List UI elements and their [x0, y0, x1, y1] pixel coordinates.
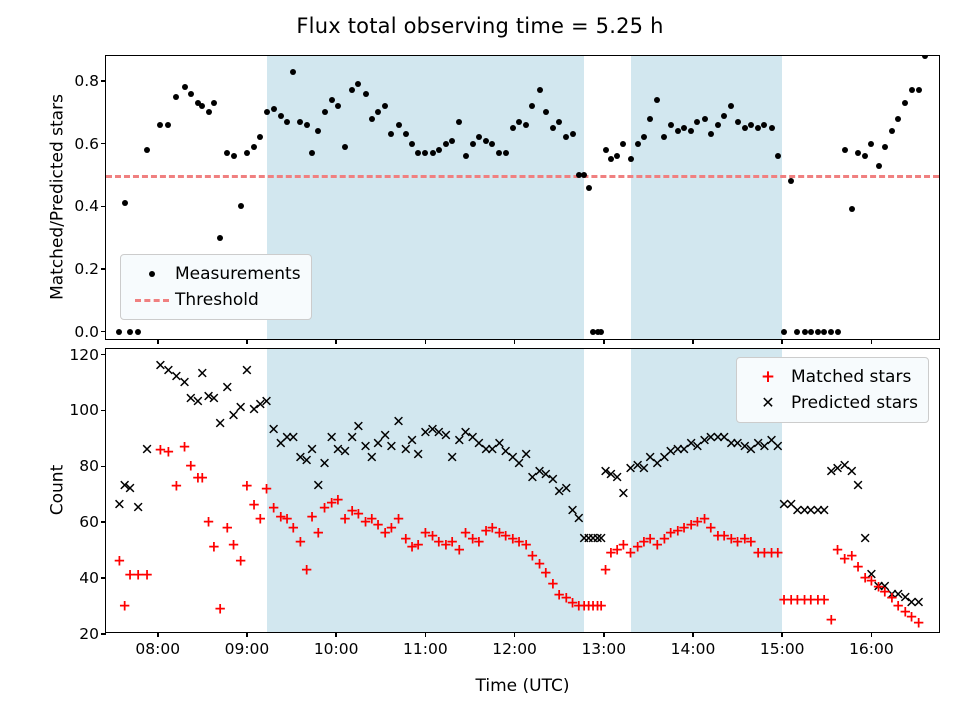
y-tick-label: 40 — [79, 569, 99, 587]
x-tick-label: 16:00 — [849, 640, 894, 658]
legend-label: Measurements — [175, 264, 301, 284]
predicted-star-marker: ✕ — [611, 470, 624, 485]
measurement-point — [882, 144, 888, 150]
y-tick-mark — [101, 143, 106, 145]
x-tick-mark — [157, 339, 159, 344]
y-tick-mark — [101, 466, 106, 468]
y-tick-label: 60 — [79, 513, 99, 531]
threshold-line — [106, 175, 939, 178]
figure-title: Flux total observing time = 5.25 h — [0, 14, 960, 38]
y-tick-label: 0.6 — [74, 135, 99, 153]
measurement-point — [388, 131, 394, 137]
predicted-star-marker: ✕ — [241, 364, 254, 379]
measurement-point — [742, 125, 748, 131]
predicted-star-marker: ✕ — [771, 439, 784, 454]
measurement-point — [122, 200, 128, 206]
measurement-point — [199, 103, 205, 109]
measurement-point — [570, 131, 576, 137]
top-panel-legend: MeasurementsThreshold — [120, 254, 312, 320]
measurement-point — [688, 128, 694, 134]
measurement-point — [403, 131, 409, 137]
measurement-point — [550, 125, 556, 131]
measurement-point — [290, 69, 296, 75]
y-tick-mark — [101, 206, 106, 208]
measurement-point — [251, 144, 257, 150]
predicted-star-marker: ✕ — [412, 448, 425, 463]
measurement-point — [815, 329, 821, 335]
measurement-point — [708, 131, 714, 137]
legend-cross-icon: ✕ — [745, 393, 791, 413]
legend-dot-icon — [129, 264, 175, 284]
measurement-point — [922, 56, 928, 59]
measurement-point — [794, 329, 800, 335]
x-tick-mark — [603, 632, 605, 637]
measurement-point — [702, 116, 708, 122]
legend-entry: Threshold — [129, 287, 301, 313]
measurement-point — [748, 122, 754, 128]
measurement-point — [135, 329, 141, 335]
measurement-point — [876, 163, 882, 169]
predicted-star-marker: ✕ — [260, 395, 273, 410]
measurement-point — [422, 150, 428, 156]
measurement-point — [297, 119, 303, 125]
predicted-star-marker: ✕ — [440, 428, 453, 443]
measurement-point — [668, 122, 674, 128]
x-tick-mark — [335, 632, 337, 637]
matched-star-marker: + — [818, 593, 831, 608]
measurement-point — [608, 156, 614, 162]
x-tick-mark — [692, 632, 694, 637]
measurement-point — [224, 150, 230, 156]
measurement-point — [529, 103, 535, 109]
measurement-point — [476, 134, 482, 140]
legend-entry: ✕Predicted stars — [745, 390, 918, 416]
y-tick-mark — [101, 268, 106, 270]
measurement-point — [173, 94, 179, 100]
measurement-point — [661, 134, 667, 140]
predicted-star-marker: ✕ — [366, 450, 379, 465]
matched-star-marker: + — [241, 478, 254, 493]
measurement-point — [355, 81, 361, 87]
measurement-point — [443, 141, 449, 147]
measurement-point — [849, 206, 855, 212]
x-tick-label: 12:00 — [492, 640, 537, 658]
x-axis-label: Time (UTC) — [105, 676, 940, 696]
measurement-point — [889, 128, 895, 134]
x-tick-mark — [514, 339, 516, 344]
measurement-point — [182, 84, 188, 90]
measurement-point — [802, 329, 808, 335]
measurement-point — [257, 134, 263, 140]
predicted-star-marker: ✕ — [214, 417, 227, 432]
matched-star-marker: + — [118, 599, 131, 614]
measurement-point — [463, 153, 469, 159]
matched-star-marker: + — [771, 545, 784, 560]
measurement-point — [470, 141, 476, 147]
measurement-point — [537, 87, 543, 93]
x-tick-label: 15:00 — [760, 640, 805, 658]
measurement-point — [309, 150, 315, 156]
matched-star-marker: + — [234, 554, 247, 569]
measurement-point — [206, 109, 212, 115]
predicted-star-marker: ✕ — [859, 532, 872, 547]
measurement-point — [586, 185, 592, 191]
measurement-point — [761, 122, 767, 128]
measurement-point — [483, 138, 489, 144]
y-tick-label: 80 — [79, 457, 99, 475]
matched-star-marker: + — [306, 509, 319, 524]
y-tick-label: 0.4 — [74, 197, 99, 215]
predicted-star-marker: ✕ — [318, 456, 331, 471]
shaded-observing-block-2 — [631, 56, 783, 339]
measurement-point — [781, 329, 787, 335]
matched-star-marker: + — [178, 439, 191, 454]
y-tick-label: 0.2 — [74, 260, 99, 278]
predicted-star-marker: ✕ — [573, 512, 586, 527]
predicted-star-marker: ✕ — [617, 487, 630, 502]
measurement-point — [165, 122, 171, 128]
x-tick-mark — [871, 339, 873, 344]
top-panel-axes: 0.00.20.40.60.8 MeasurementsThreshold — [105, 55, 940, 340]
y-tick-mark — [101, 410, 106, 412]
measurement-point — [721, 113, 727, 119]
measurement-point — [902, 100, 908, 106]
measurement-point — [329, 97, 335, 103]
measurement-point — [755, 125, 761, 131]
measurement-point — [641, 134, 647, 140]
matched-star-marker: + — [260, 481, 273, 496]
x-tick-mark — [335, 339, 337, 344]
measurement-point — [157, 122, 163, 128]
matched-star-marker: + — [912, 615, 925, 630]
x-tick-label: 11:00 — [403, 640, 448, 658]
matched-star-marker: + — [214, 601, 227, 616]
y-tick-mark — [101, 80, 106, 82]
measurement-point — [503, 150, 509, 156]
measurement-point — [842, 147, 848, 153]
measurement-point — [628, 156, 634, 162]
matched-star-marker: + — [392, 512, 405, 527]
measurement-point — [769, 125, 775, 131]
predicted-star-marker: ✕ — [306, 442, 319, 457]
x-tick-mark — [781, 339, 783, 344]
predicted-star-marker: ✕ — [141, 442, 154, 457]
measurement-point — [694, 119, 700, 125]
measurement-point — [895, 116, 901, 122]
figure-canvas: Flux total observing time = 5.25 h 0.00.… — [0, 0, 960, 720]
x-tick-mark — [246, 632, 248, 637]
measurement-point — [775, 153, 781, 159]
matched-star-marker: + — [196, 470, 209, 485]
measurement-point — [581, 172, 587, 178]
measurement-point — [284, 119, 290, 125]
measurement-point — [647, 116, 653, 122]
x-tick-mark — [425, 632, 427, 637]
measurement-point — [808, 329, 814, 335]
predicted-star-marker: ✕ — [113, 498, 126, 513]
measurement-point — [681, 125, 687, 131]
measurement-point — [909, 87, 915, 93]
matched-star-marker: + — [825, 613, 838, 628]
x-tick-mark — [246, 339, 248, 344]
measurement-point — [556, 119, 562, 125]
measurement-point — [735, 119, 741, 125]
x-tick-mark — [781, 632, 783, 637]
predicted-star-marker: ✕ — [221, 381, 234, 396]
measurement-point — [436, 147, 442, 153]
legend-entry: Measurements — [129, 261, 301, 287]
predicted-star-marker: ✕ — [446, 450, 459, 465]
measurement-point — [363, 91, 369, 97]
measurement-point — [231, 153, 237, 159]
matched-star-marker: + — [227, 537, 240, 552]
y-tick-label: 0.8 — [74, 72, 99, 90]
y-tick-label: 0.0 — [74, 323, 99, 341]
y-tick-label: 100 — [69, 401, 99, 419]
measurement-point — [868, 141, 874, 147]
measurement-point — [375, 109, 381, 115]
measurement-point — [855, 150, 861, 156]
measurement-point — [489, 141, 495, 147]
x-tick-label: 14:00 — [671, 640, 716, 658]
x-tick-label: 10:00 — [314, 640, 359, 658]
measurement-point — [456, 119, 462, 125]
predicted-star-marker: ✕ — [339, 445, 352, 460]
bottom-panel-legend: +Matched stars✕Predicted stars — [736, 357, 929, 423]
predicted-star-marker: ✕ — [208, 392, 221, 407]
x-tick-mark — [425, 339, 427, 344]
measurement-point — [322, 109, 328, 115]
shaded-observing-block-1 — [267, 56, 585, 339]
measurement-point — [828, 329, 834, 335]
measurement-point — [271, 106, 277, 112]
measurement-point — [127, 329, 133, 335]
measurement-point — [430, 150, 436, 156]
predicted-star-marker: ✕ — [196, 367, 209, 382]
legend-label: Threshold — [175, 290, 259, 310]
matched-star-marker: + — [300, 562, 313, 577]
y-tick-mark — [101, 577, 106, 579]
matched-star-marker: + — [595, 599, 608, 614]
measurement-point — [821, 329, 827, 335]
measurement-point — [614, 153, 620, 159]
predicted-star-marker: ✕ — [234, 400, 247, 415]
measurement-point — [516, 119, 522, 125]
measurement-point — [496, 150, 502, 156]
measurement-point — [144, 147, 150, 153]
measurement-point — [543, 109, 549, 115]
legend-label: Matched stars — [791, 367, 911, 387]
measurement-point — [116, 329, 122, 335]
matched-star-marker: + — [141, 568, 154, 583]
y-tick-mark — [101, 633, 106, 635]
bottom-panel-axes: ✕✕✕✕✕✕✕✕✕✕✕✕✕✕✕✕✕✕✕✕✕✕✕✕✕✕✕✕✕✕✕✕✕✕✕✕✕✕✕✕… — [105, 348, 940, 633]
measurement-point — [238, 203, 244, 209]
measurement-point — [342, 144, 348, 150]
legend-label: Predicted stars — [791, 393, 918, 413]
predicted-star-marker: ✕ — [124, 481, 137, 496]
measurement-point — [523, 122, 529, 128]
x-tick-mark — [871, 632, 873, 637]
measurement-point — [244, 150, 250, 156]
predicted-star-marker: ✕ — [520, 448, 533, 463]
x-tick-label: 13:00 — [581, 640, 626, 658]
measurement-point — [369, 116, 375, 122]
x-tick-label: 08:00 — [135, 640, 180, 658]
predicted-star-marker: ✕ — [385, 439, 398, 454]
predicted-star-marker: ✕ — [352, 420, 365, 435]
matched-star-marker: + — [221, 520, 234, 535]
measurement-point — [603, 147, 609, 153]
matched-star-marker: + — [202, 515, 215, 530]
measurement-point — [409, 141, 415, 147]
predicted-star-marker: ✕ — [287, 431, 300, 446]
legend-dashed-line-icon — [129, 290, 175, 310]
y-tick-mark — [101, 354, 106, 356]
measurement-point — [211, 100, 217, 106]
measurement-point — [449, 138, 455, 144]
predicted-star-marker: ✕ — [818, 504, 831, 519]
y-tick-label: 120 — [69, 346, 99, 364]
measurement-point — [563, 134, 569, 140]
measurement-point — [264, 109, 270, 115]
matched-star-marker: + — [453, 543, 466, 558]
predicted-star-marker: ✕ — [852, 478, 865, 493]
measurement-point — [335, 103, 341, 109]
predicted-star-marker: ✕ — [312, 478, 325, 493]
measurement-point — [916, 87, 922, 93]
measurement-point — [635, 141, 641, 147]
y-tick-label: 20 — [79, 625, 99, 643]
predicted-star-marker: ✕ — [132, 501, 145, 516]
measurement-point — [835, 329, 841, 335]
matched-star-marker: + — [170, 478, 183, 493]
x-tick-mark — [692, 339, 694, 344]
legend-plus-icon: + — [745, 367, 791, 387]
measurement-point — [382, 103, 388, 109]
y-tick-mark — [101, 521, 106, 523]
measurement-point — [349, 87, 355, 93]
predicted-star-marker: ✕ — [392, 414, 405, 429]
legend-entry: +Matched stars — [745, 364, 918, 390]
measurement-point — [217, 235, 223, 241]
matched-star-marker: + — [312, 526, 325, 541]
measurement-point — [598, 329, 604, 335]
matched-star-marker: + — [208, 540, 221, 555]
measurement-point — [415, 150, 421, 156]
measurement-point — [728, 103, 734, 109]
measurement-point — [620, 141, 626, 147]
y-tick-mark — [101, 331, 106, 333]
x-tick-label: 09:00 — [225, 640, 270, 658]
predicted-star-marker: ✕ — [560, 481, 573, 496]
measurement-point — [788, 178, 794, 184]
measurement-point — [510, 125, 516, 131]
matched-star-marker: + — [294, 534, 307, 549]
measurement-point — [715, 122, 721, 128]
matched-star-marker: + — [162, 445, 175, 460]
predicted-star-marker: ✕ — [178, 375, 191, 390]
measurement-point — [396, 122, 402, 128]
matched-star-marker: + — [599, 562, 612, 577]
top-panel-y-axis-label: Matched/Predicted stars — [47, 54, 67, 339]
measurement-point — [675, 128, 681, 134]
bottom-panel-y-axis-label: Count — [47, 347, 67, 632]
measurement-point — [654, 97, 660, 103]
measurement-point — [304, 122, 310, 128]
measurement-point — [188, 91, 194, 97]
matched-star-marker: + — [254, 512, 267, 527]
measurement-point — [862, 153, 868, 159]
measurement-point — [278, 113, 284, 119]
x-tick-mark — [157, 632, 159, 637]
x-tick-mark — [603, 339, 605, 344]
x-tick-mark — [514, 632, 516, 637]
matched-star-marker: + — [332, 492, 345, 507]
measurement-point — [315, 128, 321, 134]
